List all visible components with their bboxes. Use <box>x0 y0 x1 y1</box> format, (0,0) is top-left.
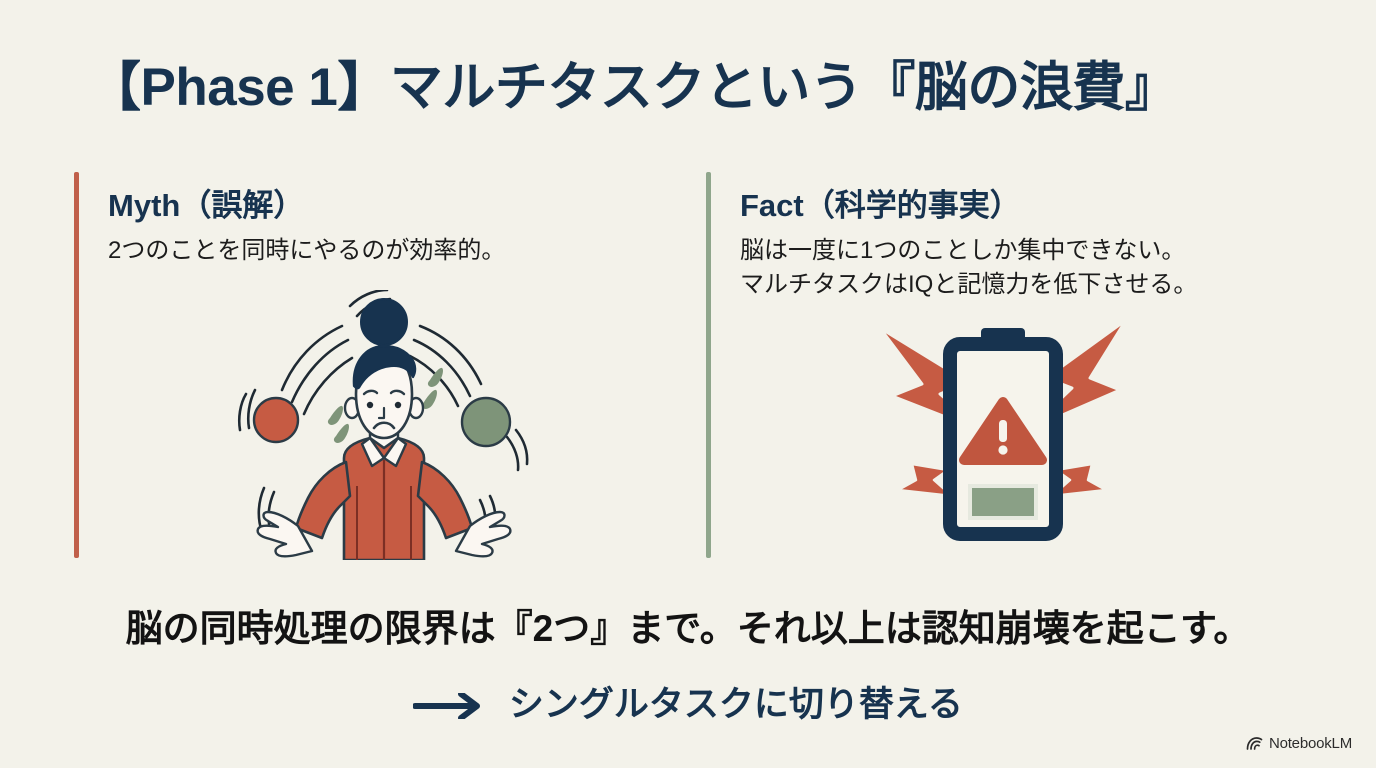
notebooklm-label: NotebookLM <box>1269 735 1352 752</box>
conclusion-text: 脳の同時処理の限界は『2つ』まで。それ以上は認知崩壊を起こす。 <box>0 598 1376 652</box>
juggling-stressed-person-icon <box>224 290 544 565</box>
myth-column: Myth（誤解） 2つのことを同時にやるのが効率的。 <box>74 170 674 560</box>
cta-text: シングルタスクに切り替える <box>0 676 1376 728</box>
myth-accent-bar <box>74 172 79 558</box>
notebooklm-watermark: NotebookLM <box>1246 735 1352 752</box>
cta-label: シングルタスクに切り替える <box>509 685 963 724</box>
arrow-right-icon <box>413 688 485 728</box>
myth-body-line: 2つのことを同時にやるのが効率的。 <box>108 234 505 268</box>
fact-body-line-1: 脳は一度に1つのことしか集中できない。 <box>740 234 1197 268</box>
myth-body: 2つのことを同時にやるのが効率的。 <box>108 234 505 268</box>
slide-canvas: 【Phase 1】マルチタスクという『脳の浪費』 Myth（誤解） 2つのことを… <box>0 0 1376 768</box>
page-title: 【Phase 1】マルチタスクという『脳の浪費』 <box>88 58 1288 119</box>
fact-body-line-2: マルチタスクはIQと記憶力を低下させる。 <box>740 268 1197 302</box>
myth-heading: Myth（誤解） <box>108 180 304 225</box>
fact-heading: Fact（科学的事実） <box>740 180 1021 225</box>
fact-accent-bar <box>706 172 711 558</box>
fact-column: Fact（科学的事実） 脳は一度に1つのことしか集中できない。 マルチタスクはI… <box>706 170 1306 560</box>
low-battery-warning-icon <box>856 310 1146 555</box>
notebooklm-logo-icon <box>1246 736 1263 751</box>
fact-body: 脳は一度に1つのことしか集中できない。 マルチタスクはIQと記憶力を低下させる。 <box>740 234 1197 302</box>
